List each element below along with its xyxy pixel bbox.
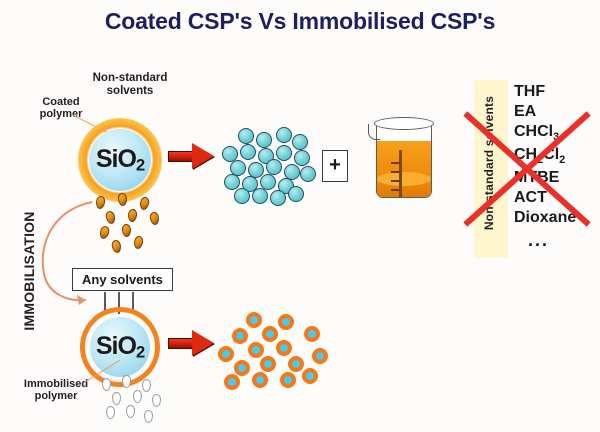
page-title: Coated CSP's Vs Immobilised CSP's (0, 8, 600, 35)
any-solvents-box: Any solvents (72, 268, 173, 291)
sio2-label: SiO2 (78, 332, 162, 363)
coated-particle-cluster (218, 126, 314, 204)
solvent-list-ellipsis: ... (514, 229, 576, 252)
top-process-arrow (168, 143, 214, 169)
beaker-spout (368, 124, 380, 140)
immobilised-polymer-callout: Immobilised polymer (8, 378, 104, 403)
bottom-process-arrow (168, 330, 214, 356)
immobilised-particle-cluster (218, 312, 328, 384)
beaker-graduation-marks (391, 162, 401, 196)
plus-symbol: + (322, 150, 348, 182)
non-standard-solvents-vertical-label: Non-standard solvents (482, 74, 496, 252)
coated-sio2-particle: SiO2 (78, 118, 162, 202)
non-standard-solvents-callout: Non-standard solvents (76, 72, 184, 98)
slide-canvas: Coated CSP's Vs Immobilised CSP's IMMOBI… (0, 0, 600, 432)
sio2-label: SiO2 (78, 145, 162, 176)
coated-polymer-callout: Coated polymer (22, 96, 100, 121)
beaker-meniscus (377, 172, 431, 186)
solvent-beaker (368, 112, 440, 204)
solvent-item: EA (514, 102, 576, 122)
beaker-liquid (377, 141, 431, 197)
beaker-rim (374, 117, 434, 130)
beaker-glass (376, 122, 432, 198)
solvent-item: Dioxane (514, 208, 576, 228)
excluded-solvents-panel: Non-standard solvents THF EA CHCl3 CH2Cl… (452, 72, 598, 264)
solvent-item: THF (514, 82, 576, 102)
